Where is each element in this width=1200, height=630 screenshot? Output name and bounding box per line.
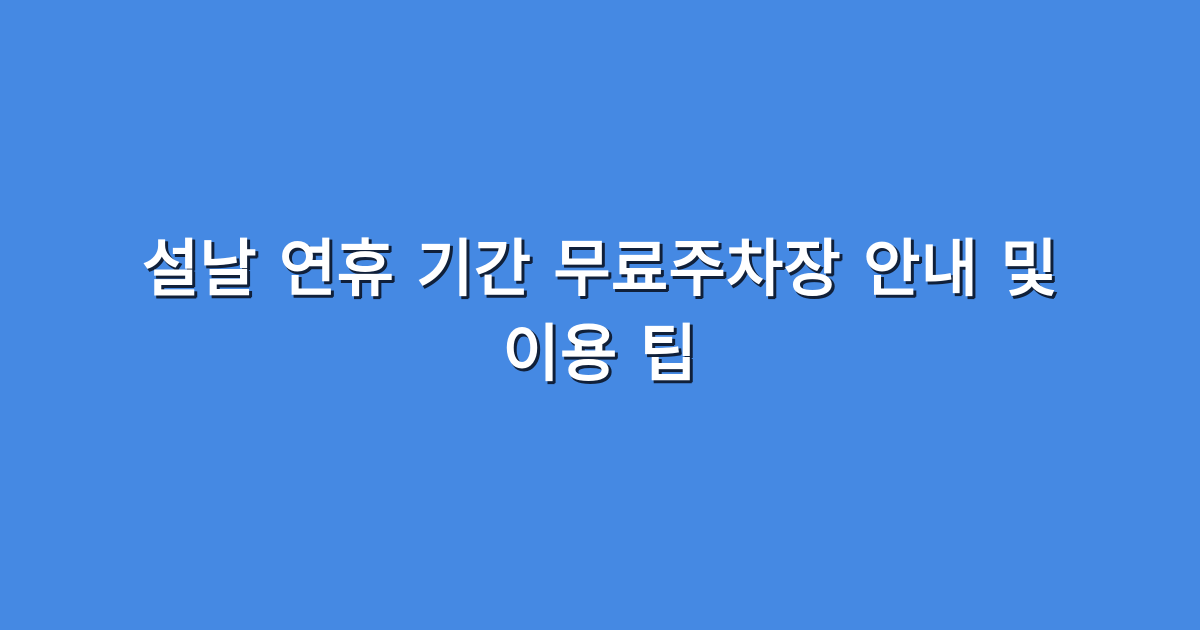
- page-title: 설날 연휴 기간 무료주차장 안내 및 이용 팁: [60, 226, 1140, 396]
- social-card: 설날 연휴 기간 무료주차장 안내 및 이용 팁: [0, 0, 1200, 630]
- title-line-2: 이용 팁: [70, 311, 1130, 396]
- title-line-1: 설날 연휴 기간 무료주차장 안내 및: [70, 226, 1130, 311]
